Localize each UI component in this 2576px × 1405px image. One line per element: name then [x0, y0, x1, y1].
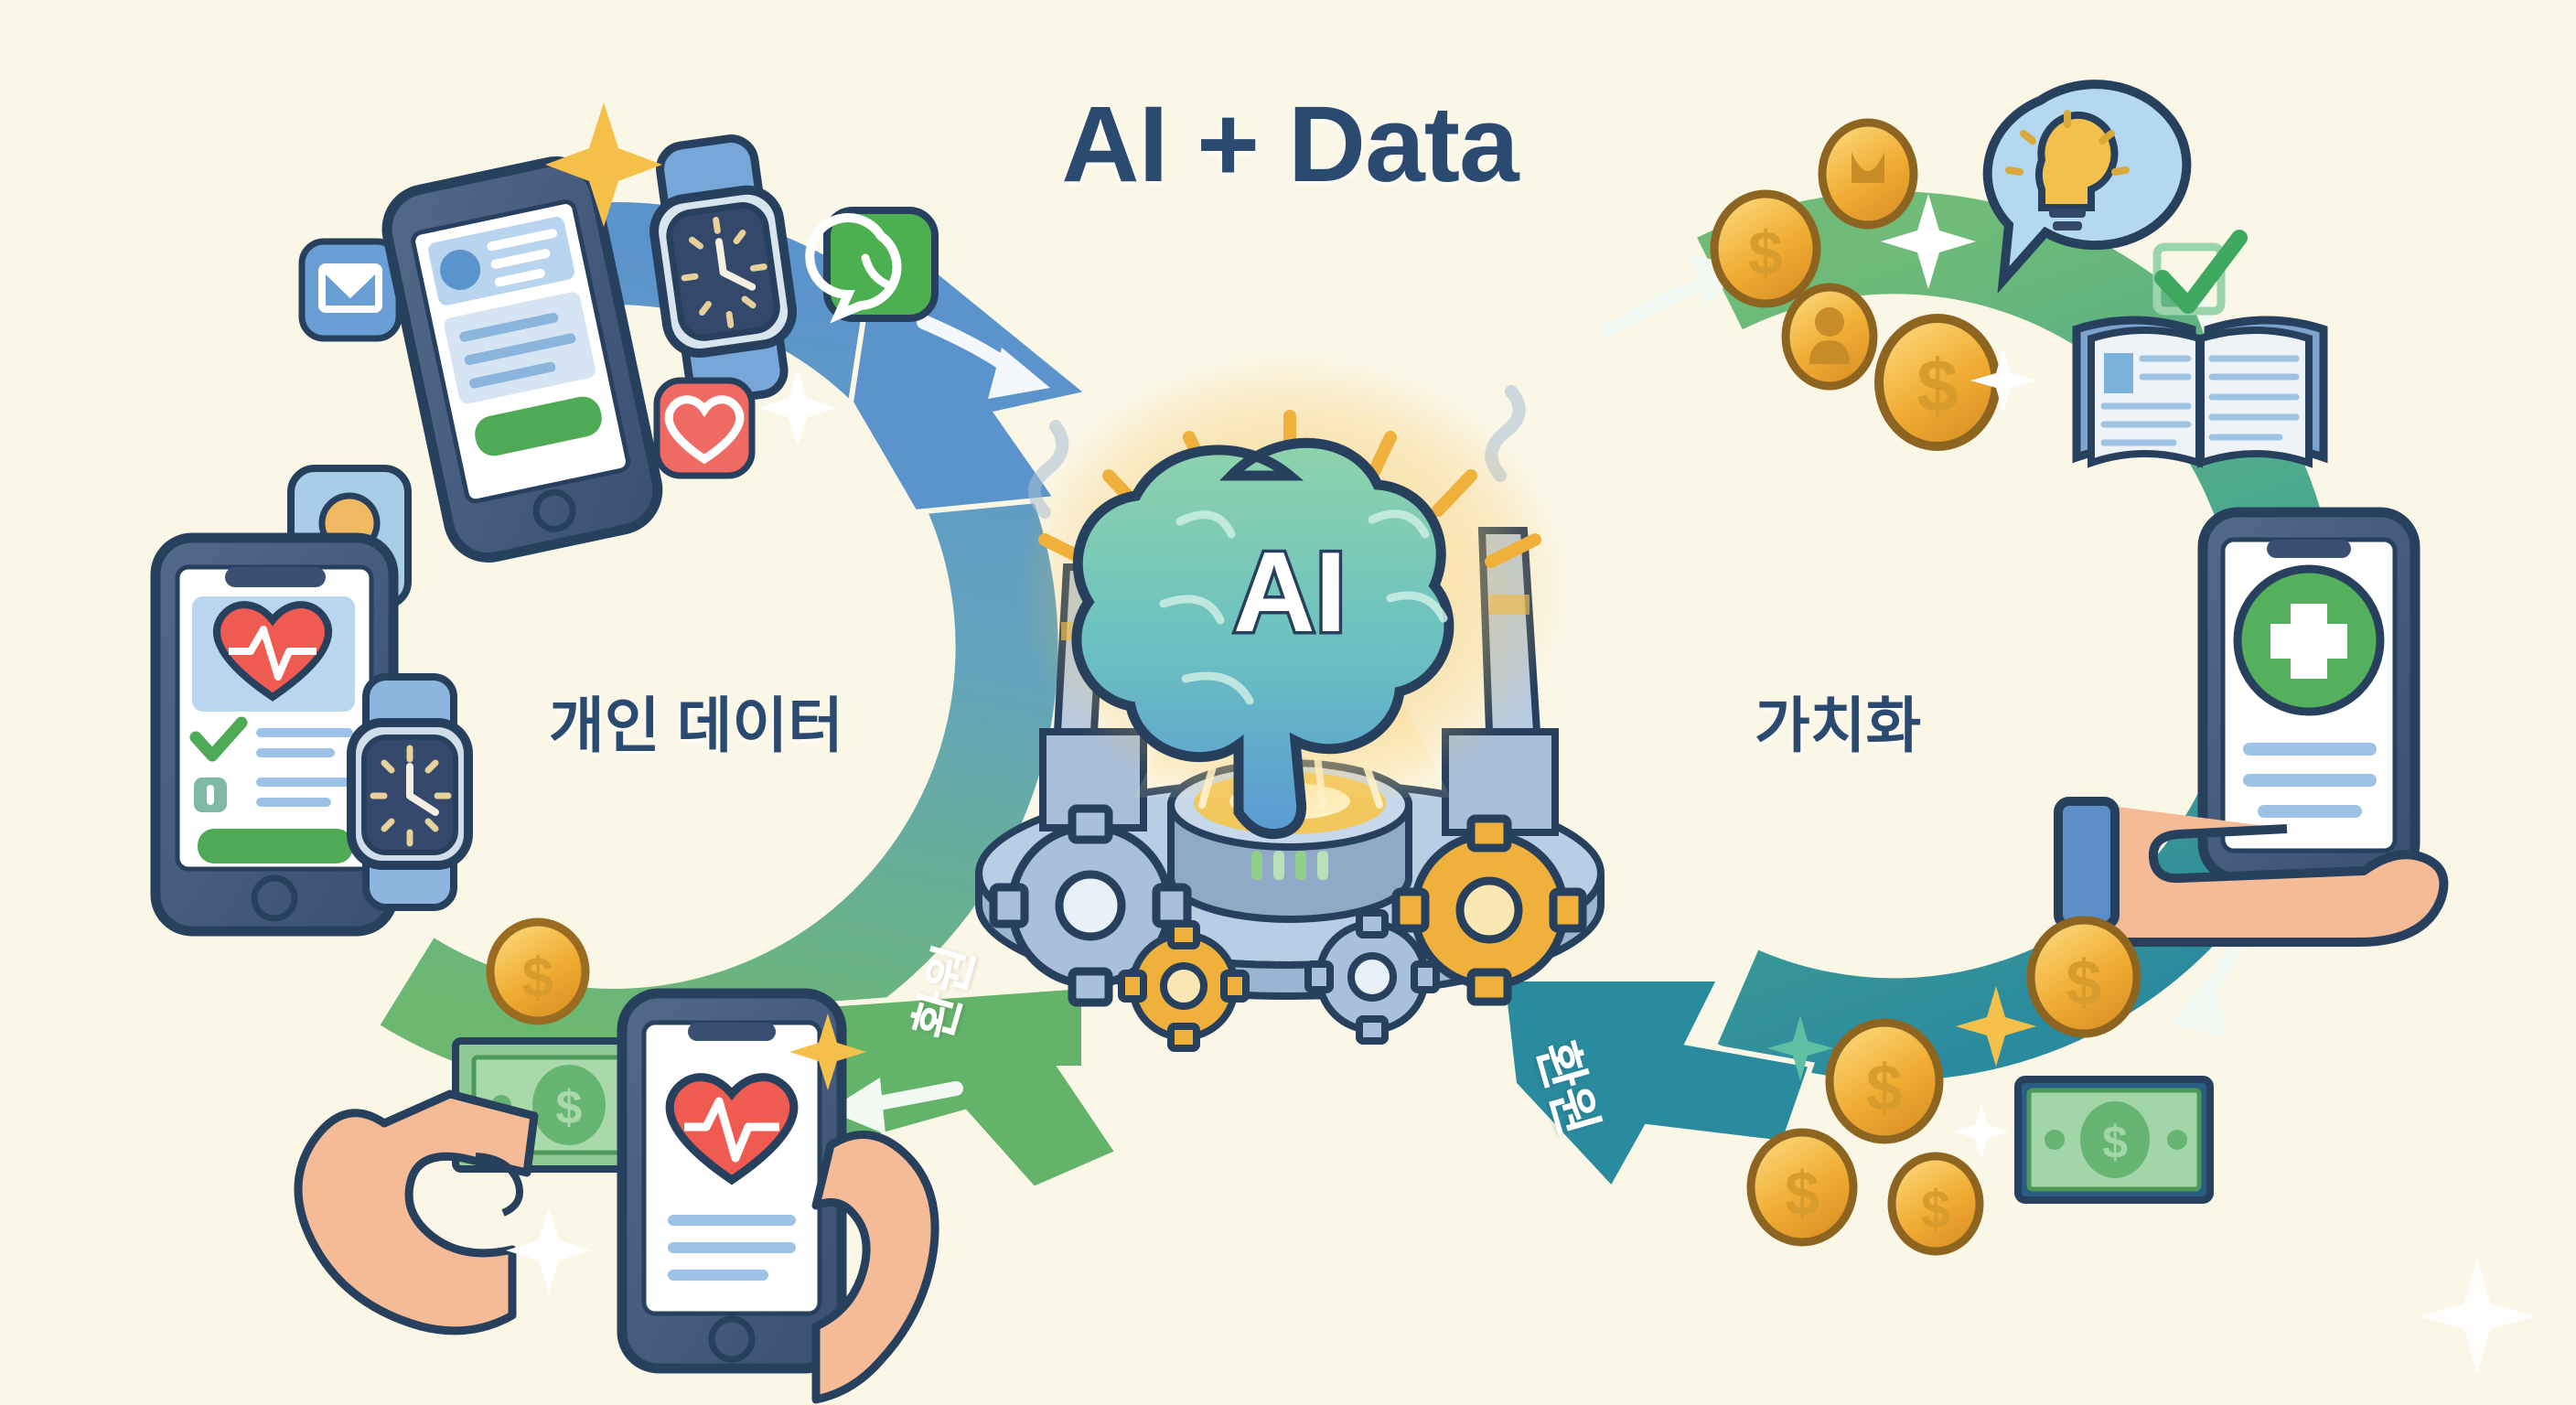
open-book-icon [2077, 320, 2324, 463]
smartwatch-icon [642, 134, 803, 406]
sparkle-icon [1953, 1103, 2010, 1160]
coin-icon: $ [1892, 1156, 1980, 1251]
coin-person-icon [1786, 287, 1873, 386]
svg-text:$: $ [556, 1081, 583, 1134]
coin-icon: $ [1830, 1023, 1939, 1140]
coin-dollar-icon: $ [1714, 194, 1817, 304]
svg-text:$: $ [2102, 1117, 2128, 1168]
email-icon [302, 241, 399, 338]
hand-left [298, 1094, 534, 1331]
svg-text:$: $ [2066, 947, 2102, 1018]
smartwatch-2-icon [351, 677, 468, 907]
coin-icon: $ [1751, 1132, 1853, 1242]
page-title: AI + Data [970, 82, 1610, 207]
infographic-illustration: AI [0, 0, 2576, 1405]
coin-icon: $ [2031, 920, 2137, 1034]
sparkle-icon [506, 1207, 592, 1293]
svg-text:$: $ [1921, 1180, 1950, 1239]
left-health-devices [156, 538, 468, 931]
sparkle-icon [2419, 1258, 2536, 1375]
svg-text:$: $ [1916, 345, 1959, 428]
right-cycle-label: 가치화 [1755, 677, 1921, 765]
svg-text:$: $ [1785, 1159, 1819, 1228]
infographic-canvas: AI [0, 0, 2576, 1405]
whatsapp-icon [810, 210, 935, 318]
left-cycle-label: 개인 데이터 [549, 677, 843, 765]
right-hand-phone-scene [2058, 512, 2443, 942]
ai-factory-center: AI [979, 357, 1601, 1048]
svg-text:$: $ [1748, 219, 1783, 288]
coin-trophy-icon [1822, 123, 1914, 225]
svg-text:AI: AI [1233, 530, 1347, 656]
heart-app-icon [657, 381, 752, 476]
svg-text:$: $ [1866, 1052, 1903, 1125]
banknote-icon: $ [2018, 1079, 2210, 1200]
svg-text:$: $ [522, 947, 553, 1010]
coin-icon: $ [490, 922, 585, 1021]
